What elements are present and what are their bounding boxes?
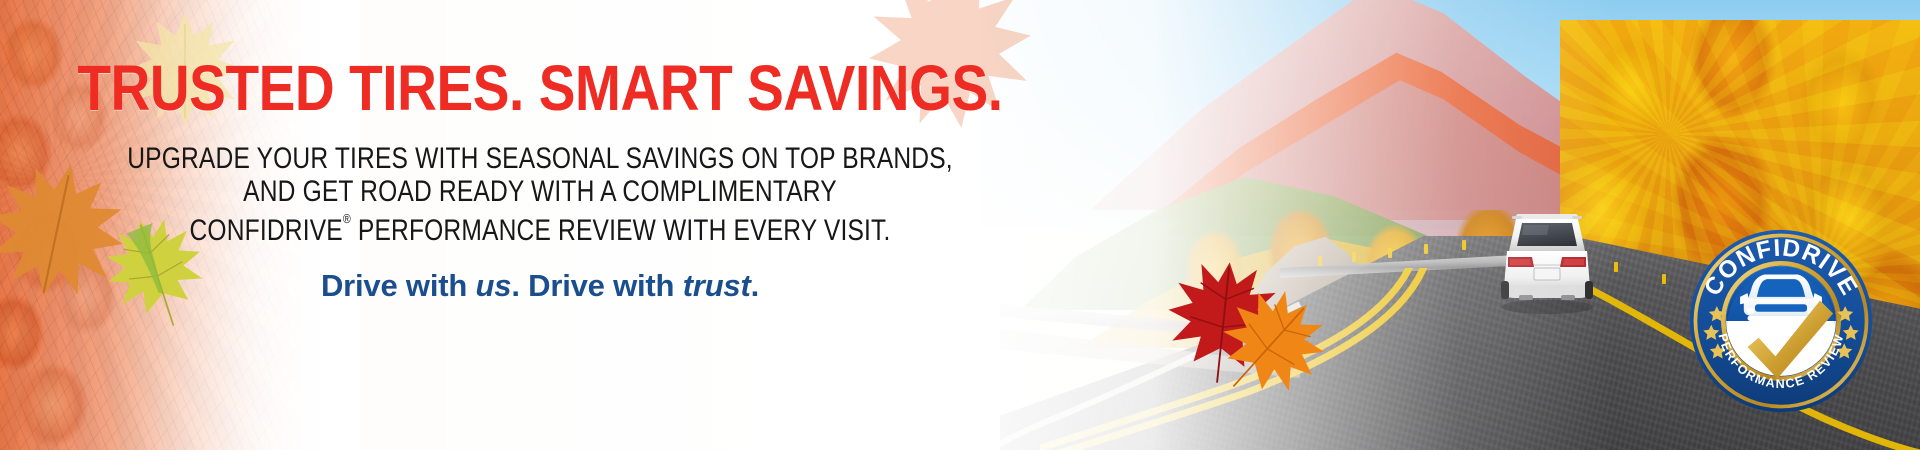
- tagline-part-1: Drive with: [321, 268, 476, 303]
- promo-description-line-1: UPGRADE YOUR TIRES WITH SEASONAL SAVINGS…: [97, 142, 983, 175]
- promo-description-line-3-rest: PERFORMANCE REVIEW WITH EVERY VISIT.: [351, 214, 891, 247]
- tagline-part-3: .: [751, 268, 759, 303]
- reflector-post: [1614, 262, 1618, 272]
- page-title: TRUSTED TIRES. SMART SAVINGS.: [76, 56, 1005, 120]
- tagline-emphasis-trust: trust: [683, 268, 751, 303]
- reflector-post: [1462, 240, 1466, 250]
- reflector-post: [1388, 248, 1392, 258]
- reflector-post: [1424, 244, 1428, 254]
- registered-trademark-icon: ®: [343, 211, 351, 226]
- promo-description-line-2: AND GET ROAD READY WITH A COMPLIMENTARY: [97, 175, 983, 208]
- tagline-part-2: . Drive with: [511, 268, 682, 303]
- seasonal-tire-promotion-banner: TRUSTED TIRES. SMART SAVINGS. UPGRADE YO…: [0, 0, 1920, 450]
- reflector-post: [1318, 256, 1322, 266]
- confidrive-performance-review-seal: CONFIDRIVE PERFORMANCE REVIEW: [1688, 228, 1874, 414]
- brand-tagline: Drive with us. Drive with trust.: [0, 268, 1080, 304]
- promo-description: UPGRADE YOUR TIRES WITH SEASONAL SAVINGS…: [0, 142, 1080, 247]
- promo-copy-block: TRUSTED TIRES. SMART SAVINGS. UPGRADE YO…: [0, 0, 1130, 450]
- promo-description-line-3: CONFIDRIVE® PERFORMANCE REVIEW WITH EVER…: [97, 208, 983, 247]
- reflector-post: [1662, 274, 1666, 284]
- tagline-emphasis-us: us: [476, 268, 512, 303]
- white-suv-vehicle: [1489, 207, 1605, 315]
- reflector-post: [1352, 252, 1356, 262]
- confidrive-brand-name: CONFIDRIVE: [190, 214, 343, 247]
